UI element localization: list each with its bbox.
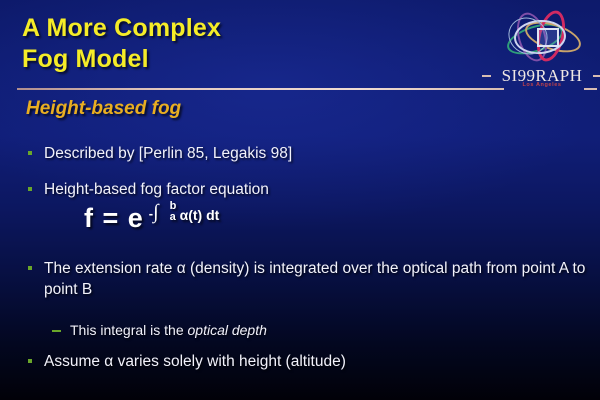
list-item: Assume α varies solely with height (alti… (28, 351, 588, 372)
presentation-slide: A More Complex Fog Model SI99RAPH Los An… (0, 0, 600, 400)
list-item: The extension rate α (density) is integr… (28, 258, 588, 300)
sub-bullet-emphasis: optical depth (188, 322, 267, 338)
bullet-square-icon (28, 187, 32, 191)
list-item-label: Height-based fog factor equation (44, 179, 588, 200)
list-item-label: This integral is the optical depth (70, 321, 572, 340)
bullet-square-icon (28, 359, 32, 363)
equation-exponent: - ∫ b a α(t) dt (149, 206, 220, 222)
equation-left-side: f = e (84, 203, 144, 234)
integral-limits: b a (170, 206, 179, 220)
sub-bullet-text: This integral is the (70, 322, 188, 338)
equation-integrand: α(t) dt (180, 207, 220, 223)
integral-lower-limit: a (170, 211, 176, 223)
fog-factor-equation: f = e - ∫ b a α(t) dt (84, 203, 219, 234)
list-item-label: Assume α varies solely with height (alti… (44, 351, 588, 372)
bullet-dash-icon (52, 330, 61, 332)
bullet-square-icon (28, 266, 32, 270)
list-item: Described by [Perlin 85, Legakis 98] (28, 143, 588, 164)
bullet-square-icon (28, 151, 32, 155)
list-item: This integral is the optical depth (52, 321, 572, 340)
list-item-label: The extension rate α (density) is integr… (44, 258, 588, 300)
list-item-label: Described by [Perlin 85, Legakis 98] (44, 143, 588, 164)
list-item: Height-based fog factor equation (28, 179, 588, 200)
slide-body: Described by [Perlin 85, Legakis 98] Hei… (0, 0, 600, 400)
integral-sign-icon: ∫ (153, 205, 158, 219)
